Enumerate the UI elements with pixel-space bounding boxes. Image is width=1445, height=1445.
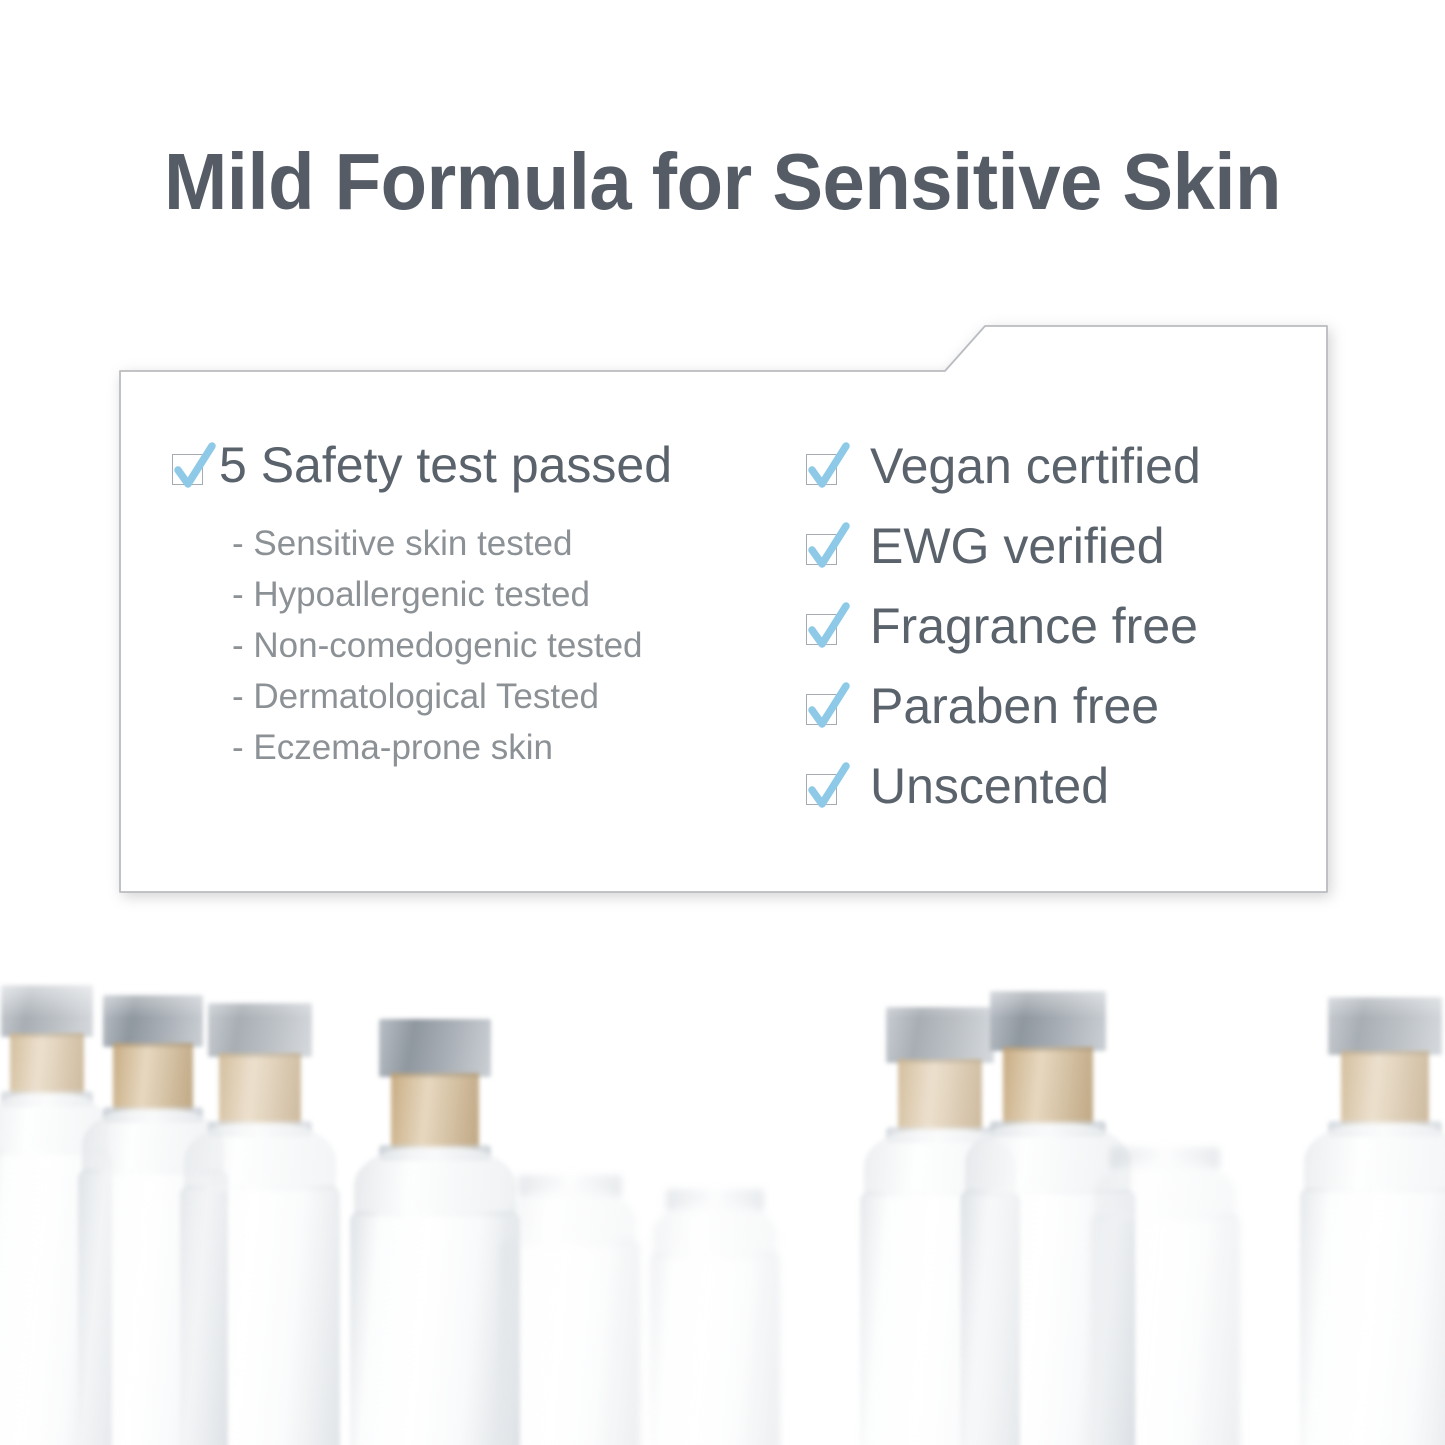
vial <box>1300 995 1445 1445</box>
page-title: Mild Formula for Sensitive Skin <box>36 142 1409 222</box>
product-photo <box>0 958 1445 1445</box>
safety-test-column: 5 Safety test passed - Sensitive skin te… <box>172 438 812 773</box>
vial <box>500 1155 640 1445</box>
safety-test-sublist: - Sensitive skin tested - Hypoallergenic… <box>232 518 812 773</box>
certification-label: EWG verified <box>870 518 1165 574</box>
list-item: Paraben free <box>806 678 1326 758</box>
checkmark-icon <box>806 604 844 648</box>
check-glyph <box>805 603 851 653</box>
certification-label: Vegan certified <box>870 438 1201 494</box>
check-glyph <box>805 683 851 733</box>
safety-heading-row: 5 Safety test passed <box>172 438 812 492</box>
certification-column: Vegan certified EWG verified Fragrance f… <box>806 438 1326 838</box>
certification-label: Unscented <box>870 758 1109 814</box>
check-glyph <box>171 443 217 493</box>
list-item: - Sensitive skin tested <box>232 518 812 569</box>
list-item: Vegan certified <box>806 438 1326 518</box>
check-glyph <box>805 443 851 493</box>
infographic-page: Mild Formula for Sensitive Skin 5 Safety… <box>0 0 1445 1445</box>
list-item: - Eczema-prone skin <box>232 722 812 773</box>
checkmark-icon <box>806 524 844 568</box>
checkmark-icon <box>172 444 210 488</box>
vial <box>350 1015 520 1445</box>
check-glyph <box>805 763 851 813</box>
checkmark-icon <box>806 764 844 808</box>
list-item: Unscented <box>806 758 1326 838</box>
certification-label: Paraben free <box>870 678 1159 734</box>
list-item: EWG verified <box>806 518 1326 598</box>
safety-heading-label: 5 Safety test passed <box>219 438 672 492</box>
checkmark-icon <box>806 444 844 488</box>
vial <box>180 1003 340 1445</box>
list-item: - Non-comedogenic tested <box>232 620 812 671</box>
checkmark-icon <box>806 684 844 728</box>
list-item: Fragrance free <box>806 598 1326 678</box>
check-glyph <box>805 523 851 573</box>
list-item: - Dermatological Tested <box>232 671 812 722</box>
vial <box>1090 1125 1240 1445</box>
certification-label: Fragrance free <box>870 598 1198 654</box>
vial <box>650 1173 780 1445</box>
photo-content <box>0 958 1445 1445</box>
list-item: - Hypoallergenic tested <box>232 569 812 620</box>
